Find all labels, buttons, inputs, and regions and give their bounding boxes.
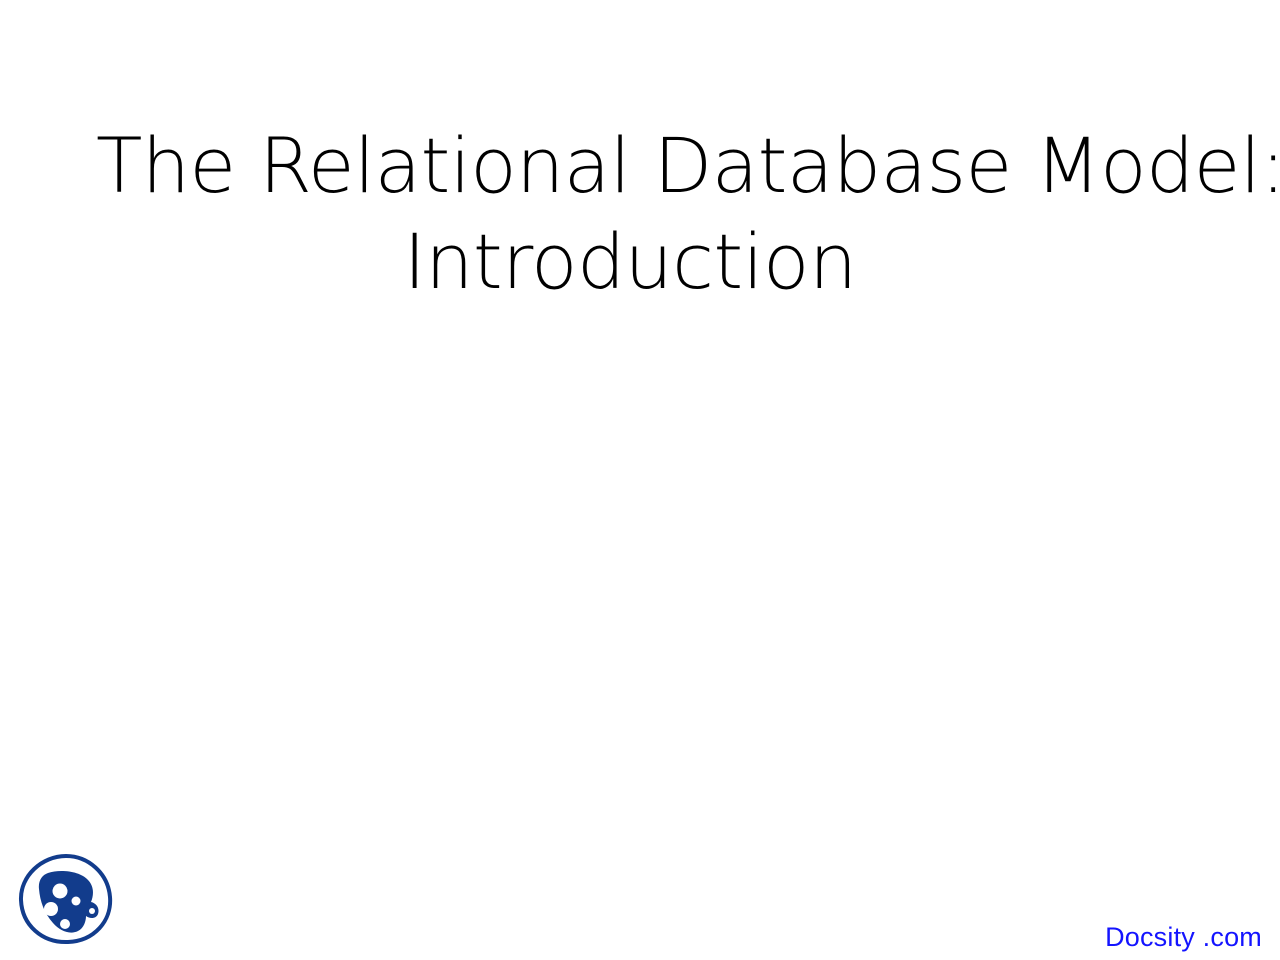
page-title-line-1: The Relational Database Model: xyxy=(96,118,1164,214)
page-title-line-2: Introduction xyxy=(96,214,1164,310)
page-title: The Relational Database Model: Introduct… xyxy=(96,118,1164,310)
docsity-logo-icon xyxy=(18,853,114,945)
docsity-watermark-text: Docsity .com xyxy=(1105,922,1262,952)
slide-canvas: The Relational Database Model: Introduct… xyxy=(0,0,1280,960)
